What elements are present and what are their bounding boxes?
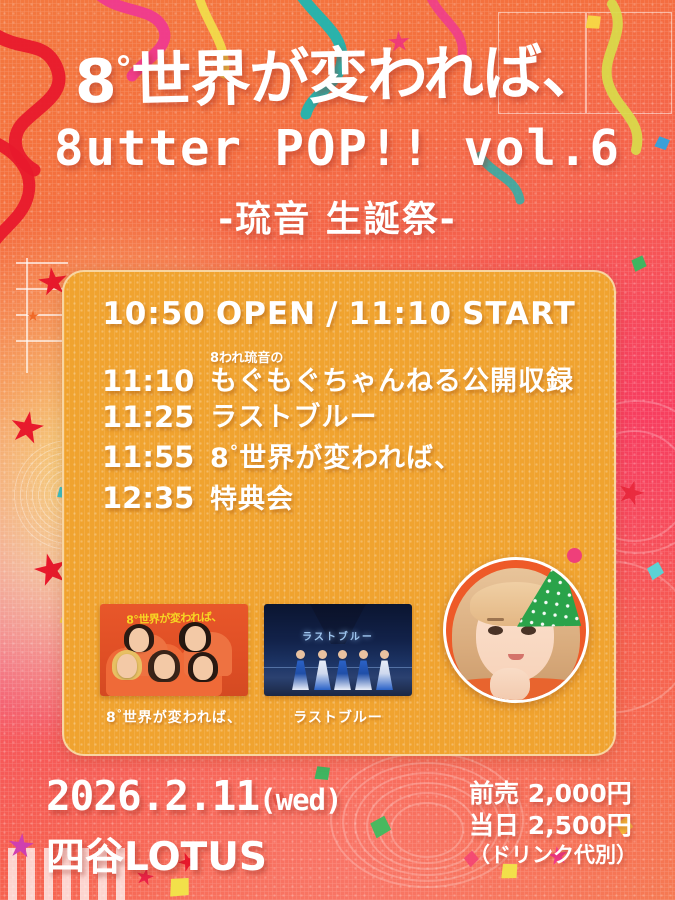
event-venue: 四谷LOTUS [46,826,341,882]
artist-card: 8°世界が変われば、 [100,604,248,727]
start-label: START [462,296,576,332]
degree-symbol-icon: ° [230,442,240,462]
flyer-title-third: -琉音 生誕祭- [0,190,675,242]
photo-logo-text: 8°世界が変われば、 [108,608,240,627]
schedule-row-time: 11:55 [102,442,210,474]
event-date: 2026.2.11(wed) [46,772,341,820]
title-main-rest: 世界が変われば、 [131,37,601,117]
start-time: 11:10 [348,296,452,332]
eyebrow-left [487,618,504,621]
flyer-title-main: 8°世界が変われば、 [0,21,675,122]
caption-rest: 世界が変われば、 [123,710,242,726]
price-note: （ドリンク代別） [469,842,637,869]
degree-symbol-icon: ° [115,49,132,89]
open-start-separator: / [326,296,338,332]
title-8: 8 [210,443,230,474]
title-main-8: 8 [74,47,116,118]
footer-pricing: 前売 2,000円 当日 2,500円 （ドリンク代別） [469,778,637,869]
schedule-row: 11:25 ラストブルー [64,402,614,434]
schedule-row-title: ラストブルー [210,403,614,433]
schedule-row-time: 12:35 [102,483,210,515]
open-time: 10:50 [102,296,206,332]
schedule-row-title: もぐもぐちゃんねる公開収録 [210,367,614,397]
party-hat-pompom-icon [567,548,582,563]
hand [490,668,530,702]
schedule-row: 11:55 8°世界が変われば、 [64,442,614,474]
artist-photo-lastblue: ラストブルー [264,604,412,696]
schedule-row-title: 特典会 [210,485,614,515]
eye-right [521,626,536,635]
schedule-open-start-row: 10:50 OPEN / 11:10 START [64,296,614,332]
schedule-row-time: 11:10 [102,366,210,398]
artist-card: ラストブルー ラストブルー [264,604,412,727]
open-label: OPEN [216,296,316,332]
artist-card-caption: ラストブルー [264,707,412,727]
price-door: 当日 2,500円 [469,810,637,842]
eye-left [488,626,503,635]
photo-background: 8°世界が変われば、 [100,604,248,696]
date-weekday: (wed) [259,783,341,817]
caption-8: 8 [106,710,117,726]
title-rest: 世界が変われば、 [239,443,462,474]
schedule-row: 11:10 8われ琉音の もぐもぐちゃんねる公開収録 [64,352,614,398]
artist-photo-8sekai: 8°世界が変われば、 [100,604,248,696]
photo-logo-text: ラストブルー [264,628,412,643]
artist-card-caption: 8°世界が変われば、 [100,707,248,727]
date-value: 2026.2.11 [46,772,259,820]
flyer-title-sub: 8utter POP!! vol.6 [0,120,675,177]
schedule-row: 12:35 特典会 [64,483,614,515]
photo-background: ラストブルー [264,604,412,696]
price-advance: 前売 2,000円 [469,778,637,810]
footer-date-venue: 2026.2.11(wed) 四谷LOTUS [46,772,341,882]
swirl-decoration [390,802,464,858]
schedule-row-subtitle: 8われ琉音の [210,352,614,366]
birthday-member-portrait [443,557,589,703]
schedule-row-time: 11:25 [102,402,210,434]
event-flyer: 8°世界が変われば、 8utter POP!! vol.6 -琉音 生誕祭- 1… [0,0,675,900]
schedule-row-title: 8°世界が変われば、 [210,443,614,474]
